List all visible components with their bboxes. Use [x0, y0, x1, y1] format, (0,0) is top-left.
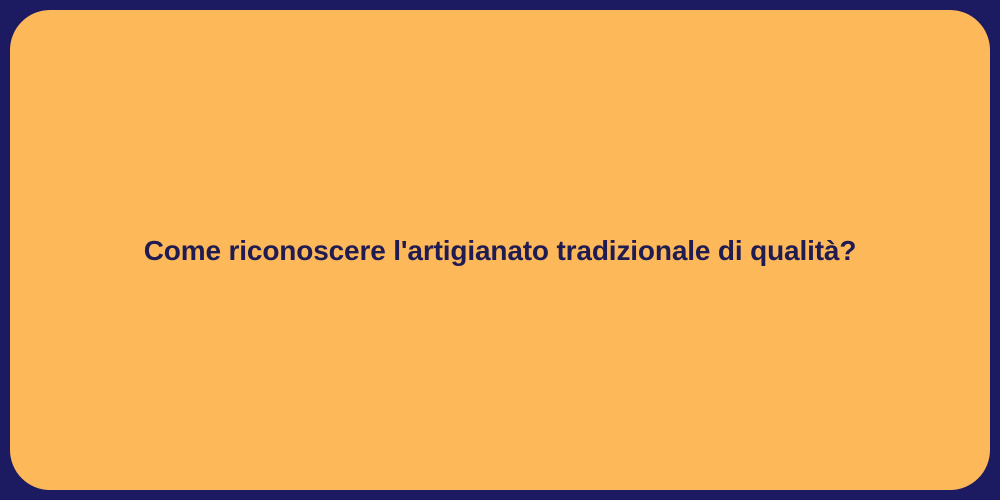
page-title: Come riconoscere l'artigianato tradizion… [144, 233, 857, 268]
banner-card: Come riconoscere l'artigianato tradizion… [0, 0, 1000, 500]
banner-panel: Come riconoscere l'artigianato tradizion… [10, 10, 990, 490]
